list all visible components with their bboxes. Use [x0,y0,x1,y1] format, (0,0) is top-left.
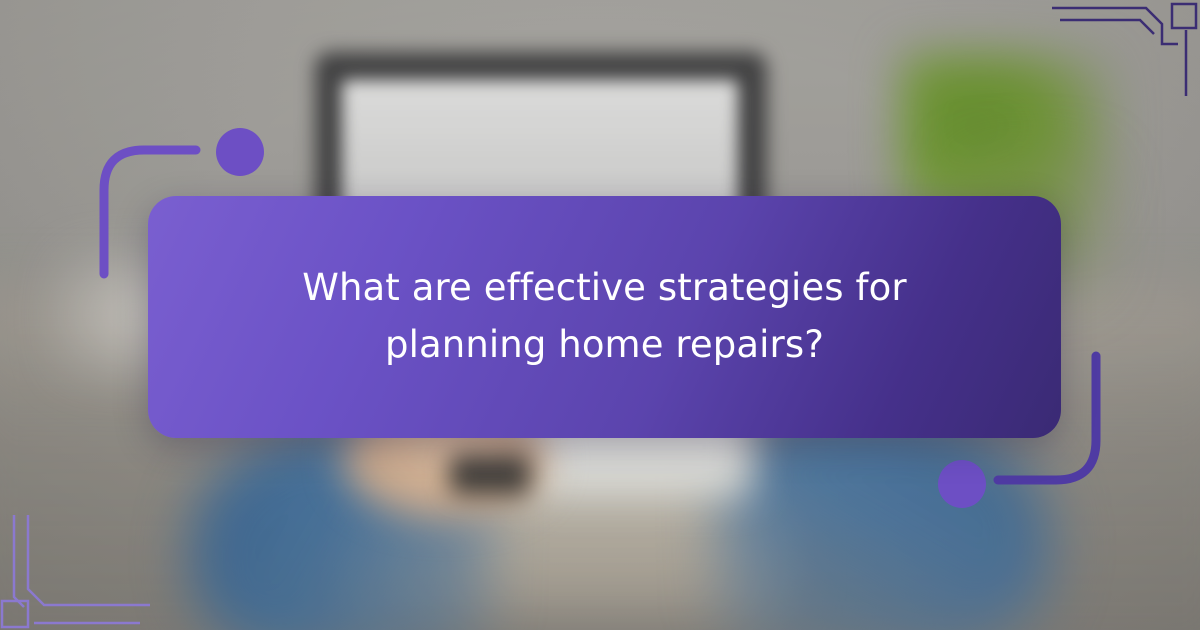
question-card-graphic: What are effective strategies for planni… [0,0,1200,630]
dot-bottom-right [938,460,986,508]
dot-top-left [216,128,264,176]
question-card: What are effective strategies for planni… [148,196,1061,438]
question-text: What are effective strategies for planni… [255,260,955,373]
